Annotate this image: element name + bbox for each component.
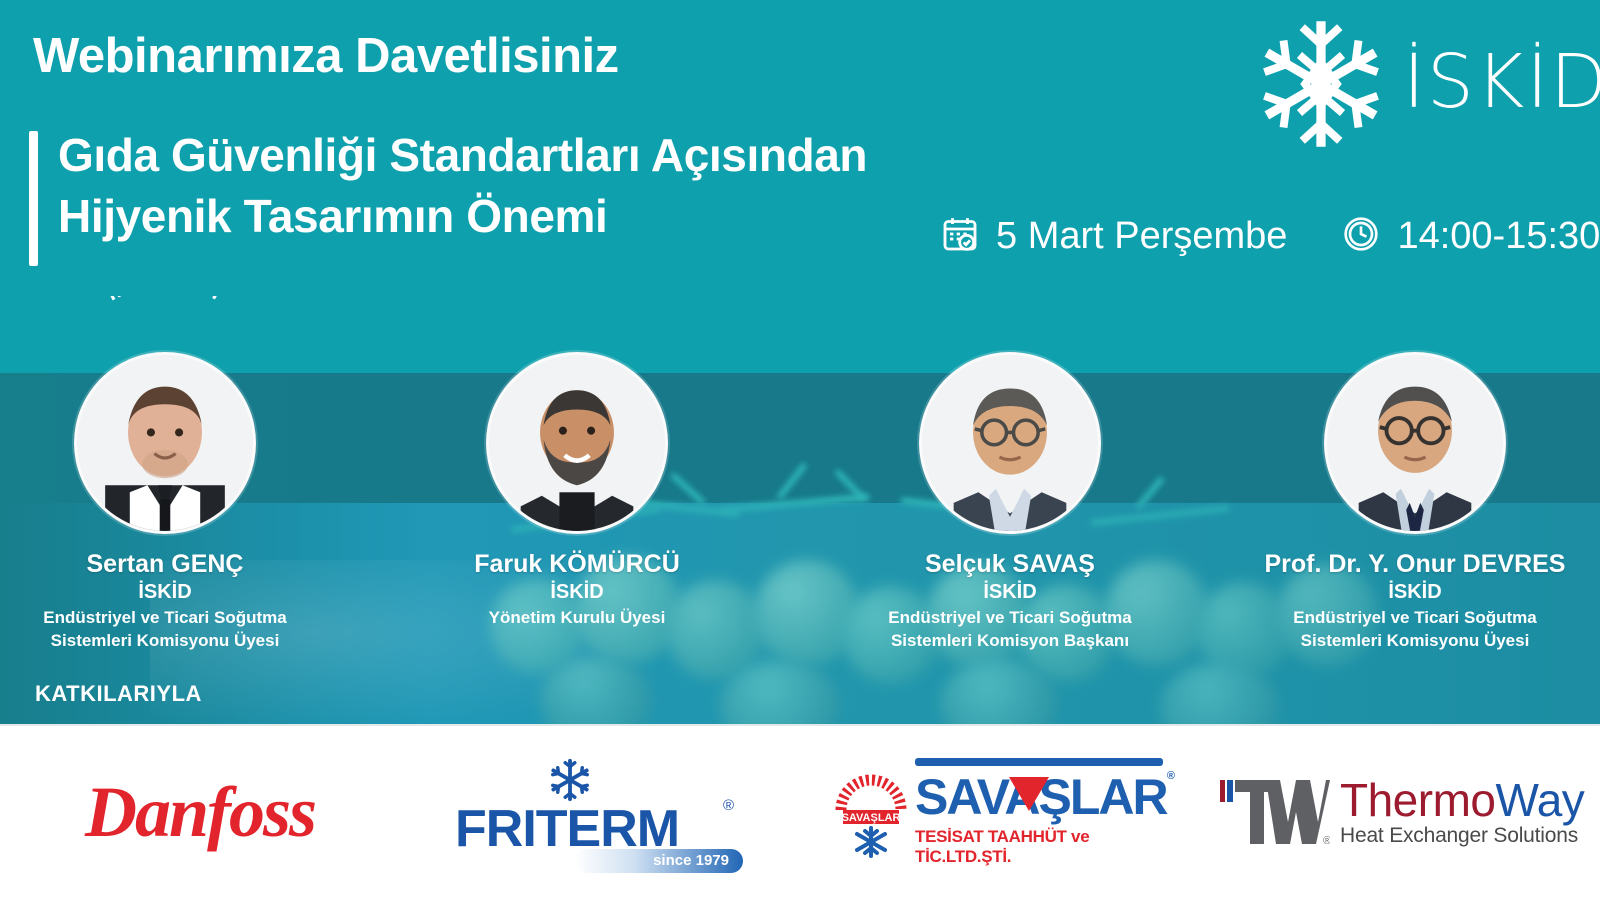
kicker-text: Webinarımıza Davetlisiniz [33, 28, 619, 84]
savaslar-triangle-icon [1009, 777, 1049, 811]
speaker-role-line-2: Sistemleri Komisyon Başkanı [845, 630, 1175, 653]
calendar-check-icon [940, 214, 980, 259]
speaker-card-3: Selçuk SAVAŞ İSKİD Endüstriyel ve Ticari… [845, 352, 1175, 652]
speaker-org: İSKİD [0, 581, 330, 604]
savaslar-tagline: TESİSAT TAAHHÜT ve TİC.LTD.ŞTİ. [915, 827, 1163, 867]
savaslar-badge-text: SAVAŞLAR [842, 812, 901, 824]
savaslar-wordmark-wrap: SAVAŞLAR ® [915, 768, 1163, 826]
speaker-name: Prof. Dr. Y. Onur DEVRES [1250, 550, 1580, 579]
page-title: Gıda Güvenliği Standartları Açısından Hi… [58, 125, 867, 247]
title-line-1: Gıda Güvenliği Standartları Açısından [58, 125, 867, 186]
savaslar-badge-icon: SAVAŞLAR [835, 766, 907, 858]
speaker-name: Faruk KÖMÜRCÜ [412, 550, 742, 579]
avatar [486, 352, 668, 534]
speaker-card-4: Prof. Dr. Y. Onur DEVRES İSKİD Endüstriy… [1250, 352, 1580, 652]
savaslar-registered-mark: ® [1167, 770, 1173, 782]
sponsor-danfoss[interactable]: Danfoss [0, 724, 400, 900]
event-date-text: 5 Mart Perşembe [996, 215, 1287, 258]
thermoway-word-way: Way [1495, 774, 1584, 826]
event-time: 14:00-15:30 [1341, 214, 1600, 259]
speaker-role: Endüstriyel ve Ticari Soğutma Sistemleri… [1250, 607, 1580, 652]
speaker-role-line-1: Endüstriyel ve Ticari Soğutma [0, 607, 330, 630]
sponsor-thermoway[interactable]: ® ThermoWay Heat Exchanger Solutions [1200, 724, 1600, 900]
friterm-registered-mark: ® [723, 797, 734, 814]
thermoway-mark-registered: ® [1323, 835, 1330, 847]
speaker-card-1: Sertan GENÇ İSKİD Endüstriyel ve Ticari … [0, 352, 330, 652]
avatar [919, 352, 1101, 534]
avatar [1324, 352, 1506, 534]
tw-monogram-icon: ® [1220, 774, 1330, 850]
sponsors-label: KATKILARIYLA [35, 681, 202, 707]
speaker-org: İSKİD [1250, 581, 1580, 604]
event-meta: 5 Mart Perşembe 14:00-15:30 [940, 208, 1600, 264]
event-time-text: 14:00-15:30 [1397, 215, 1600, 258]
speaker-org: İSKİD [845, 581, 1175, 604]
speaker-card-2: Faruk KÖMÜRCÜ İSKİD Yönetim Kurulu Üyesi [412, 352, 742, 630]
friterm-tagline: since 1979 [575, 849, 743, 873]
speaker-role-line-1: Yönetim Kurulu Üyesi [412, 607, 742, 630]
iskid-wordmark: İSKİD [1403, 39, 1600, 125]
iskid-logo: İSKİD [1255, 14, 1585, 154]
speaker-role-line-2: Sistemleri Komisyonu Üyesi [0, 630, 330, 653]
speaker-name: Sertan GENÇ [0, 550, 330, 579]
sponsor-logos: Danfoss [0, 724, 1600, 900]
thermoway-tagline: Heat Exchanger Solutions [1340, 824, 1584, 848]
speaker-role-line-2: Sistemleri Komisyonu Üyesi [1250, 630, 1580, 653]
speaker-org: İSKİD [412, 581, 742, 604]
sponsor-friterm[interactable]: FRITERM ® since 1979 [400, 724, 800, 900]
speaker-name: Selçuk SAVAŞ [845, 550, 1175, 579]
clock-icon [1341, 214, 1381, 259]
thermoway-wordmark: ThermoWay [1340, 777, 1584, 823]
speaker-role: Endüstriyel ve Ticari Soğutma Sistemleri… [0, 607, 330, 652]
speaker-role-line-1: Endüstriyel ve Ticari Soğutma [1250, 607, 1580, 630]
speaker-role: Yönetim Kurulu Üyesi [412, 607, 742, 630]
savaslar-top-rule [915, 758, 1163, 766]
sponsor-savaslar[interactable]: SAVAŞLAR S [800, 724, 1200, 900]
title-line-2: Hijyenik Tasarımın Önemi [58, 186, 867, 247]
sponsor-footer: Danfoss [0, 724, 1600, 900]
speaker-role-line-1: Endüstriyel ve Ticari Soğutma [845, 607, 1175, 630]
snowflake-icon [1255, 14, 1387, 154]
title-accent-bar [29, 131, 38, 266]
danfoss-wordmark: Danfoss [85, 771, 315, 854]
avatar [74, 352, 256, 534]
thermoway-word-thermo: Thermo [1340, 774, 1495, 826]
webinar-poster: Webinarımıza Davetlisiniz Gıda Güvenliği… [0, 0, 1600, 900]
event-date: 5 Mart Perşembe [940, 214, 1287, 259]
speaker-role: Endüstriyel ve Ticari Soğutma Sistemleri… [845, 607, 1175, 652]
snowflake-icon [547, 757, 593, 803]
